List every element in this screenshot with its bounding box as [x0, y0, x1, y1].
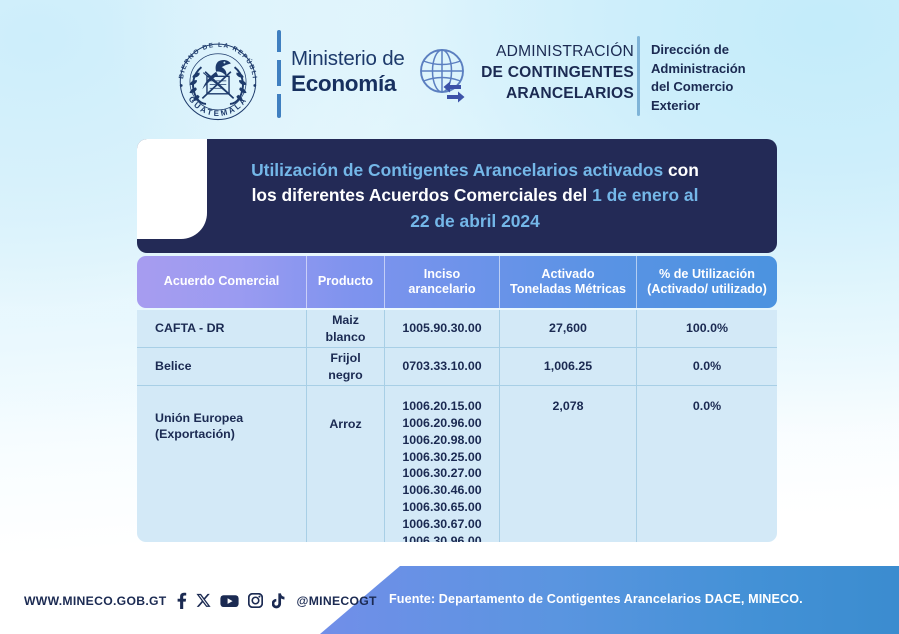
inciso-code: 1006.30.46.00 — [402, 482, 481, 499]
ministerio-wordmark: Ministerio de Economía — [291, 48, 405, 96]
direccion-line-1: Dirección de — [651, 41, 746, 60]
table-body: CAFTA - DR Maiz blanco 1005.90.30.00 27,… — [137, 310, 777, 542]
column-header-inciso-line-2: arancelario — [408, 282, 475, 297]
facebook-icon[interactable] — [176, 592, 187, 609]
direccion-wordmark: Dirección de Administración del Comercio… — [651, 41, 746, 115]
inciso-code: 1006.30.65.00 — [402, 499, 481, 516]
direccion-line-3: del Comercio — [651, 78, 746, 97]
cell-producto: Frijol negro — [307, 348, 385, 385]
website-url[interactable]: WWW.MINECO.GOB.GT — [24, 594, 167, 608]
cell-utilizacion: 0.0% — [637, 386, 777, 542]
page-title-seg-2: con — [668, 160, 699, 180]
dace-line-2: DE CONTINGENTES — [478, 63, 634, 84]
header-divider-1 — [277, 30, 281, 118]
cell-acuerdo-line-2: (Exportación) — [155, 426, 243, 442]
inciso-code: 1006.20.15.00 — [402, 398, 481, 415]
column-header-utilizacion-line-1: % de Utilización — [647, 267, 767, 282]
inciso-code: 1006.30.96.00 — [402, 533, 481, 542]
ministerio-line-2: Economía — [291, 71, 405, 96]
column-header-inciso-line-1: Inciso — [408, 267, 475, 282]
guatemala-government-seal-icon: GOBIERNO DE LA REPÚBLICA GUATEMALA — [172, 34, 264, 126]
direccion-line-4: Exterior — [651, 97, 746, 116]
social-handle[interactable]: @MINECOGT — [297, 594, 377, 608]
table-row: Unión Europea (Exportación) Arroz 1006.2… — [137, 386, 777, 542]
infographic-page: GOBIERNO DE LA REPÚBLICA GUATEMALA — [0, 0, 899, 634]
column-header-utilizacion: % de Utilización (Activado/ utilizado) — [637, 256, 777, 308]
globe-with-arrows-icon — [417, 45, 473, 105]
youtube-icon[interactable] — [220, 594, 239, 608]
cell-acuerdo-line-1: Belice — [155, 358, 192, 374]
cell-utilizacion: 100.0% — [637, 310, 777, 347]
title-card: Utilización de Contigentes Arancelarios … — [137, 139, 777, 253]
inciso-code: 1006.20.96.00 — [402, 415, 481, 432]
column-header-producto-line-1: Producto — [318, 274, 373, 289]
inciso-code: 1006.30.67.00 — [402, 516, 481, 533]
quota-utilization-table: Acuerdo Comercial Producto Inciso arance… — [137, 256, 777, 542]
cell-producto: Arroz — [307, 386, 385, 542]
cell-activado: 2,078 — [500, 386, 637, 542]
column-header-producto: Producto — [307, 256, 385, 308]
column-header-utilizacion-line-2: (Activado/ utilizado) — [647, 282, 767, 297]
cell-producto: Maiz blanco — [307, 310, 385, 347]
page-title-seg-3: los diferentes Acuerdos Comerciales del — [252, 185, 588, 205]
column-header-activado-line-1: Activado — [510, 267, 626, 282]
cell-producto-line-2: negro — [328, 367, 362, 383]
cell-acuerdo-line-1: CAFTA - DR — [155, 320, 225, 336]
cell-inciso-arancelario: 1006.20.15.00 1006.20.96.00 1006.20.98.0… — [385, 386, 500, 542]
cell-inciso-arancelario: 1005.90.30.00 — [385, 310, 500, 347]
inciso-code: 1006.30.25.00 — [402, 449, 481, 466]
table-header-row: Acuerdo Comercial Producto Inciso arance… — [137, 256, 777, 308]
cell-producto-line-1: Arroz — [329, 416, 361, 432]
footer-social-bar: WWW.MINECO.GOB.GT — [24, 592, 377, 609]
cell-acuerdo-comercial: Unión Europea (Exportación) — [137, 386, 307, 542]
header-logo-bar: GOBIERNO DE LA REPÚBLICA GUATEMALA — [0, 0, 899, 132]
page-title-line-1: Utilización de Contigentes Arancelarios … — [251, 158, 699, 183]
page-title-line-2: los diferentes Acuerdos Comerciales del … — [252, 183, 699, 208]
dace-line-2-thin: DE — [481, 64, 508, 81]
table-row: CAFTA - DR Maiz blanco 1005.90.30.00 27,… — [137, 310, 777, 348]
column-header-acuerdo-comercial: Acuerdo Comercial — [137, 256, 307, 308]
column-header-inciso-arancelario: Inciso arancelario — [385, 256, 500, 308]
cell-utilizacion: 0.0% — [637, 348, 777, 385]
dace-wordmark: ADMINISTRACIÓN DE CONTINGENTES ARANCELAR… — [478, 42, 634, 105]
inciso-code: 1006.30.27.00 — [402, 465, 481, 482]
cell-acuerdo-line-1: Unión Europea — [155, 410, 243, 426]
page-title-seg-4: 1 de enero al — [587, 185, 698, 205]
cell-producto-line-1: Frijol — [328, 350, 362, 366]
x-twitter-icon[interactable] — [196, 593, 211, 608]
page-title-seg-5: 22 de abril 2024 — [410, 209, 540, 234]
inciso-code: 0703.33.10.00 — [402, 358, 481, 375]
dace-line-1: ADMINISTRACIÓN — [478, 42, 634, 63]
table-row: Belice Frijol negro 0703.33.10.00 1,006.… — [137, 348, 777, 386]
cell-utilizacion-value: 0.0% — [693, 396, 721, 414]
cell-activado: 27,600 — [500, 310, 637, 347]
cell-producto-line-2: blanco — [326, 329, 366, 345]
column-header-activado-line-2: Toneladas Métricas — [510, 282, 626, 297]
inciso-code: 1005.90.30.00 — [402, 320, 481, 337]
inciso-code: 1006.20.98.00 — [402, 432, 481, 449]
cell-acuerdo-comercial: CAFTA - DR — [137, 310, 307, 347]
dace-line-3: ARANCELARIOS — [478, 84, 634, 105]
header-divider-2 — [637, 36, 640, 116]
tiktok-icon[interactable] — [272, 593, 286, 609]
dace-line-2-fat: CONTINGENTES — [508, 64, 634, 81]
instagram-icon[interactable] — [248, 593, 263, 608]
column-header-acuerdo-comercial-line-1: Acuerdo Comercial — [164, 274, 279, 289]
page-title: Utilización de Contigentes Arancelarios … — [137, 139, 777, 253]
ministerio-line-1: Ministerio de — [291, 48, 405, 71]
footer-source-text: Fuente: Departamento de Contigentes Aran… — [389, 592, 803, 606]
cell-inciso-arancelario: 0703.33.10.00 — [385, 348, 500, 385]
cell-producto-line-1: Maiz — [326, 312, 366, 328]
cell-activado: 1,006.25 — [500, 348, 637, 385]
cell-activado-value: 2,078 — [552, 396, 583, 414]
column-header-activado: Activado Toneladas Métricas — [500, 256, 637, 308]
cell-acuerdo-comercial: Belice — [137, 348, 307, 385]
page-title-seg-1: Utilización de Contigentes Arancelarios … — [251, 160, 668, 180]
direccion-line-2: Administración — [651, 60, 746, 79]
